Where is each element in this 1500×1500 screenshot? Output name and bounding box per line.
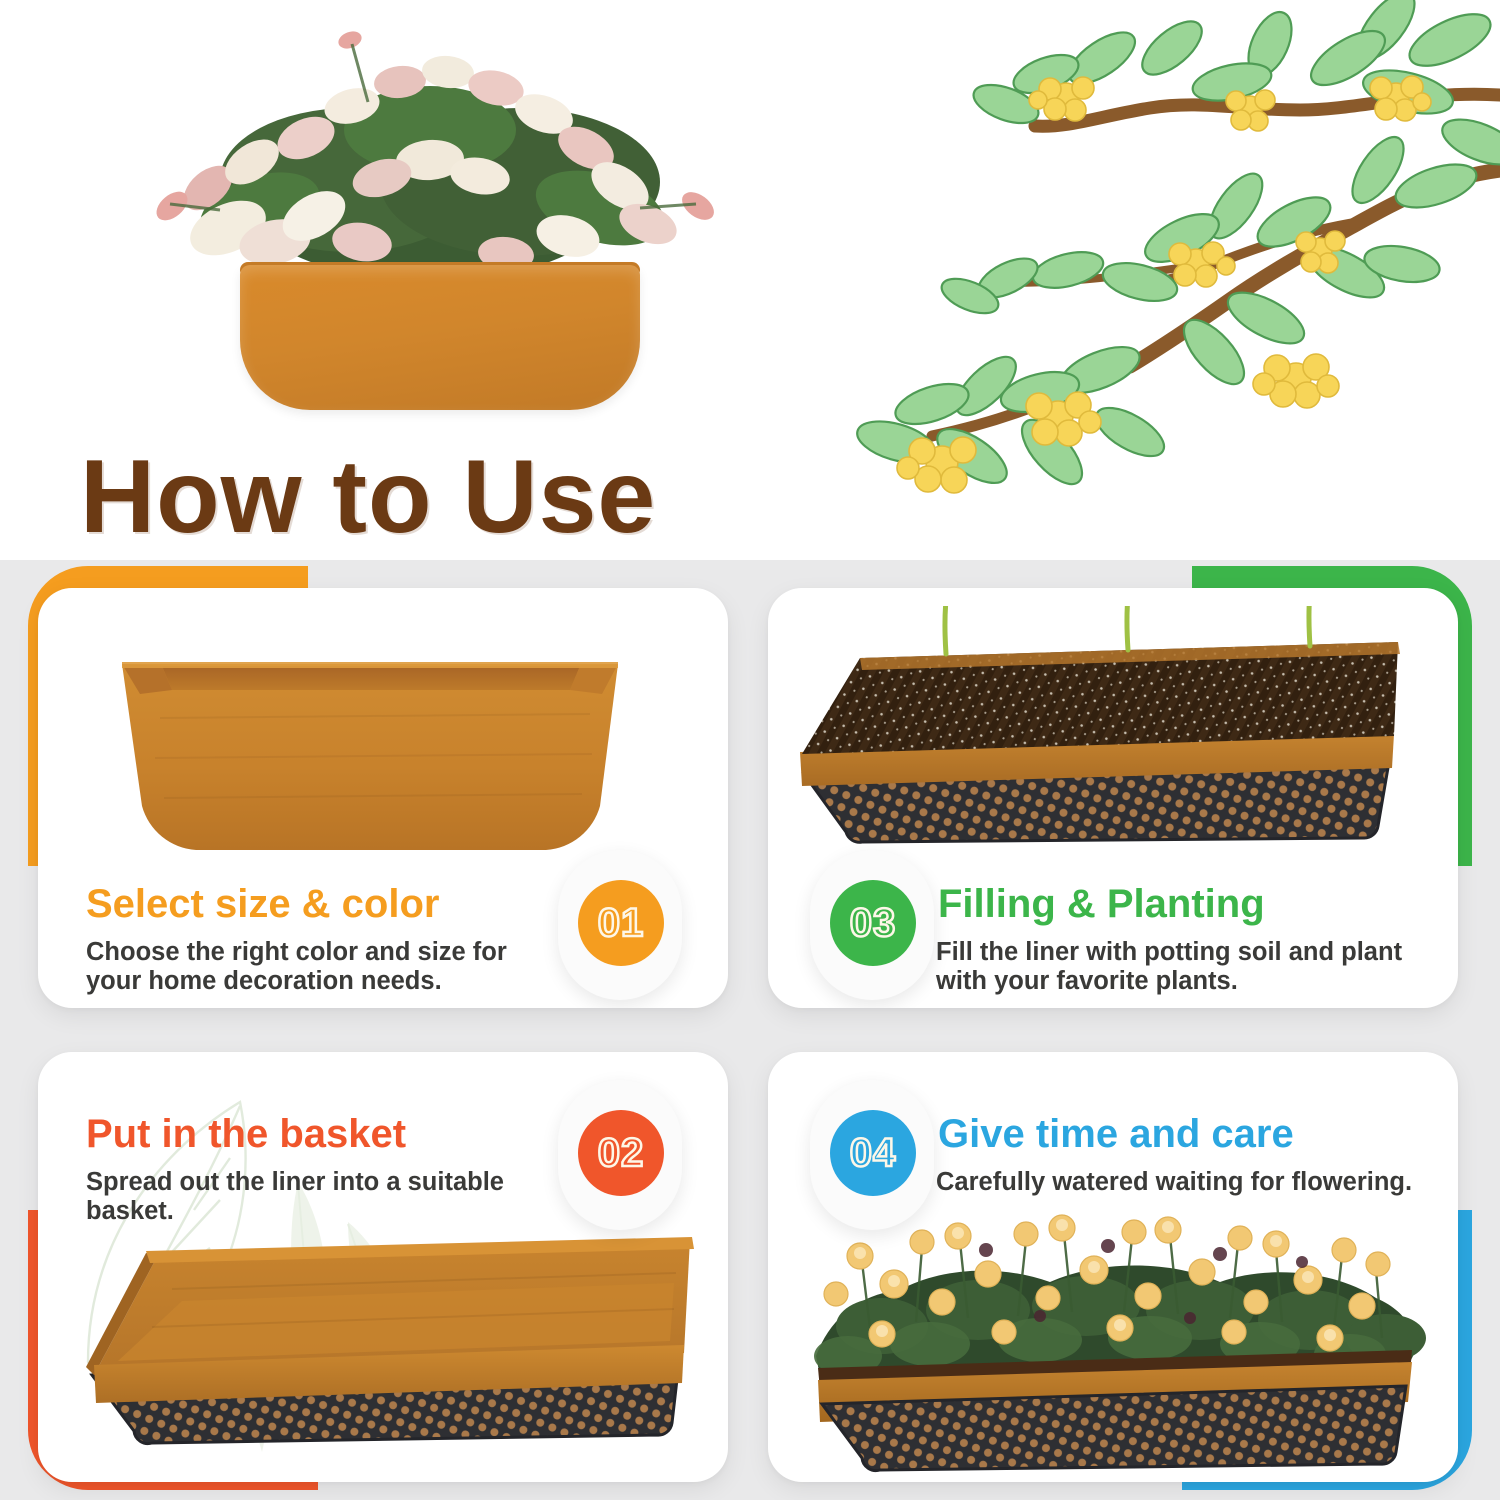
step-03-badge: 03 (830, 880, 916, 966)
step-02-number: 02 (598, 1131, 645, 1176)
step-03-body: Fill the liner with potting soil and pla… (936, 938, 1436, 995)
step-04-heading: Give time and care (938, 1114, 1294, 1154)
step-03-planting-image (776, 606, 1424, 874)
hero-planter-body (240, 265, 640, 410)
step-03-number: 03 (850, 901, 897, 946)
osmanthus-branch-icon (800, 0, 1500, 500)
step-card-02[interactable]: 02 Put in the basket Spread out the line… (38, 1052, 728, 1482)
step-01-badge: 01 (578, 880, 664, 966)
step-01-liner-image (100, 628, 640, 858)
step-02-badge: 02 (578, 1110, 664, 1196)
step-01-heading: Select size & color (86, 884, 439, 924)
step-card-01[interactable]: 01 Select size & color Choose the right … (38, 588, 728, 1008)
step-04-badge: 04 (830, 1110, 916, 1196)
infographic-page: How to Use (0, 0, 1500, 1500)
step-card-04[interactable]: 04 Give time and care Carefully watered … (768, 1052, 1458, 1482)
step-card-03[interactable]: 03 Filling & Planting Fill the liner wit… (768, 588, 1458, 1008)
step-02-body: Spread out the liner into a suitable bas… (86, 1168, 536, 1225)
step-02-basket-image (62, 1237, 710, 1477)
step-01-body: Choose the right color and size for your… (86, 938, 556, 995)
page-title: How to Use (80, 445, 656, 549)
step-02-heading: Put in the basket (86, 1114, 406, 1154)
hero-planter-image (100, 10, 760, 430)
step-01-number: 01 (598, 901, 645, 946)
step-03-heading: Filling & Planting (938, 884, 1265, 924)
step-04-roses-image (790, 1198, 1438, 1482)
step-04-number: 04 (850, 1131, 897, 1176)
step-04-body: Carefully watered waiting for flowering. (936, 1168, 1426, 1197)
page-title-wrap: How to Use (80, 445, 656, 549)
